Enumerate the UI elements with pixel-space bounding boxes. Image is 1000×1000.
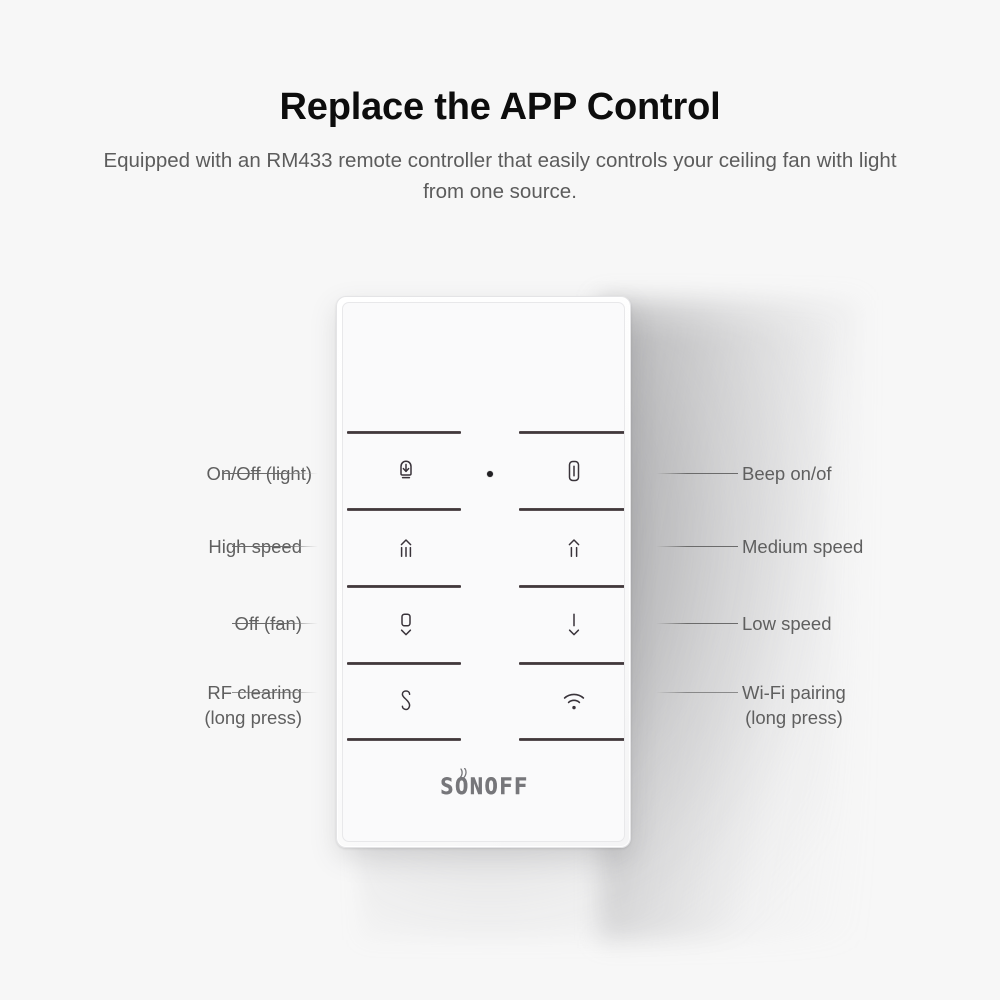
leader-line-wifi-pairing	[656, 692, 738, 693]
button-light-onoff[interactable]	[347, 434, 465, 508]
leader-line-medium-speed	[656, 546, 738, 547]
page-title: Replace the APP Control	[0, 86, 1000, 129]
callout-label-secondary: (long press)	[742, 705, 846, 730]
leader-line-beep-onoff	[656, 473, 738, 474]
page-subtitle: Equipped with an RM433 remote controller…	[100, 145, 900, 207]
fan-off-icon	[394, 611, 418, 639]
signal-waves-icon	[457, 768, 473, 780]
callout-rf-clearing: RF clearing (long press)	[204, 680, 302, 730]
callout-label: Beep on/of	[742, 461, 832, 486]
leader-line-light-onoff	[222, 473, 318, 474]
leader-line-low-speed	[656, 623, 738, 624]
button-fan-low-speed[interactable]	[515, 588, 625, 662]
button-fan-medium-speed[interactable]	[515, 511, 625, 585]
callout-low-speed: Low speed	[742, 611, 831, 636]
leader-line-high-speed	[232, 546, 318, 547]
fan-medium-speed-icon	[561, 535, 587, 561]
remote-front-panel: SONOFF	[342, 302, 625, 842]
rm433-remote-control: SONOFF	[336, 296, 631, 848]
sonoff-logo: SONOFF	[343, 775, 625, 800]
rf-clearing-icon	[396, 688, 416, 716]
callout-wifi-pairing: Wi-Fi pairing (long press)	[742, 680, 846, 730]
callout-medium-speed: Medium speed	[742, 534, 863, 559]
button-fan-high-speed[interactable]	[347, 511, 465, 585]
light-bulb-icon	[395, 459, 417, 483]
button-fan-off[interactable]	[347, 588, 465, 662]
beep-speaker-icon	[565, 458, 583, 484]
button-beep-onoff[interactable]	[515, 434, 625, 508]
leader-line-rf-clearing	[232, 692, 318, 693]
fan-low-speed-icon	[562, 611, 586, 639]
infographic-canvas: Replace the APP Control Equipped with an…	[0, 0, 1000, 1000]
callout-label-secondary: (long press)	[204, 705, 302, 730]
callout-label: Low speed	[742, 611, 831, 636]
button-wifi-pairing[interactable]	[515, 665, 625, 739]
leader-line-fan-off	[232, 623, 318, 624]
callout-beep-onoff: Beep on/of	[742, 461, 832, 486]
button-rf-clearing[interactable]	[347, 665, 465, 739]
fan-high-speed-icon	[393, 535, 419, 561]
callout-label: Wi-Fi pairing	[742, 680, 846, 705]
sonoff-wordmark: SONOFF	[440, 775, 528, 800]
status-led	[487, 471, 493, 477]
wifi-pairing-icon	[561, 691, 587, 713]
callout-label: Medium speed	[742, 534, 863, 559]
